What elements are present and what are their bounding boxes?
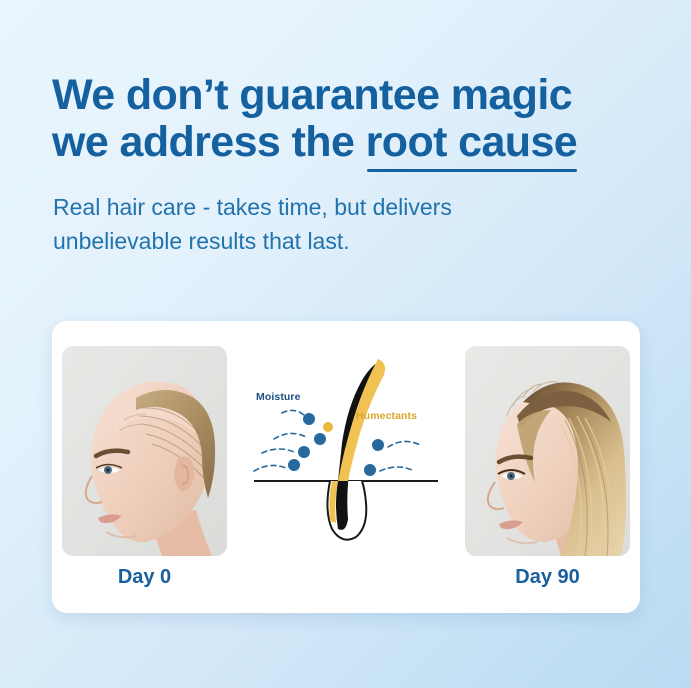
after-photo-image bbox=[465, 346, 630, 556]
before-portrait-illustration bbox=[62, 346, 227, 556]
before-photo bbox=[62, 346, 227, 556]
subtitle-line-1: Real hair care - takes time, but deliver… bbox=[53, 194, 452, 220]
hair-follicle-diagram: Moisture Humectants bbox=[238, 353, 454, 553]
page-subtitle: Real hair care - takes time, but deliver… bbox=[53, 190, 623, 258]
after-portrait-illustration bbox=[465, 346, 630, 556]
follicle-illustration bbox=[238, 353, 454, 553]
before-after-card: Moisture Humectants bbox=[52, 321, 640, 613]
moisture-label: Moisture bbox=[256, 391, 301, 403]
after-label: Day 90 bbox=[465, 566, 630, 589]
page-title: We don’t guarantee magic we address the … bbox=[52, 72, 662, 166]
promo-page: We don’t guarantee magic we address the … bbox=[0, 0, 691, 688]
headline-line-2: we address the root cause bbox=[52, 119, 662, 166]
humectants-label: Humectants bbox=[356, 410, 417, 422]
underline-rule bbox=[367, 169, 577, 172]
before-label: Day 0 bbox=[62, 566, 227, 589]
before-photo-image bbox=[62, 346, 227, 556]
subtitle-line-2: unbelievable results that last. bbox=[53, 228, 350, 254]
headline-emphasis: root cause bbox=[366, 119, 577, 166]
after-photo bbox=[465, 346, 630, 556]
headline-emphasis-text: root cause bbox=[366, 118, 577, 166]
headline-line-1: We don’t guarantee magic bbox=[52, 71, 572, 119]
headline-line-2-prefix: we address the bbox=[52, 118, 366, 166]
